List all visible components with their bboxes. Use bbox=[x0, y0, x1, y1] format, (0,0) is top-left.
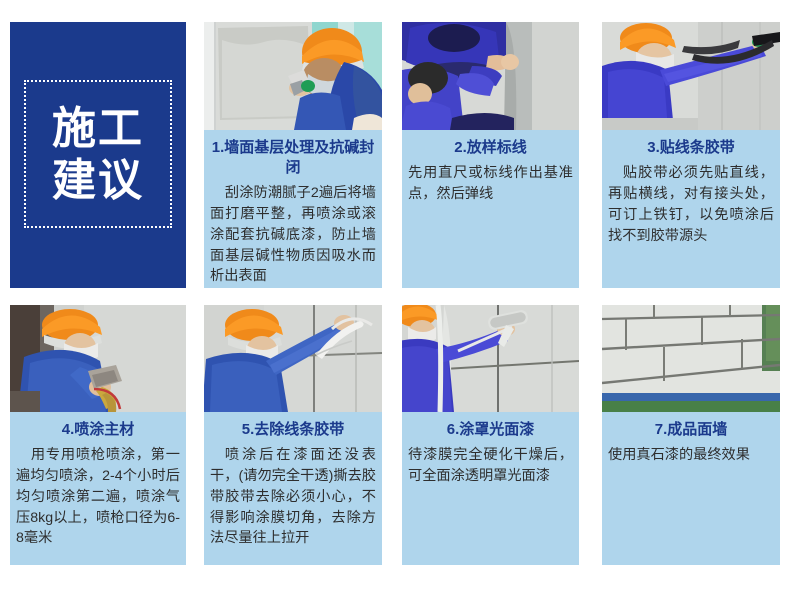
photo-illustration-plastering bbox=[204, 22, 382, 130]
step-4-title: 4.喷涂主材 bbox=[16, 420, 180, 440]
construction-advice-infographic: 施工 建议 bbox=[0, 0, 790, 595]
step-1-text: 刮涂防潮腻子2遍后将墙面打磨平整，再喷涂或滚涂配套抗碱底漆，防止墙面基层碱性物质… bbox=[210, 183, 376, 287]
step-2-text: 先用直尺或标线作出基准点，然后弹线 bbox=[408, 163, 573, 205]
step-card-6[interactable]: 6.涂罩光面漆 待漆膜完全硬化干燥后，可全面涂透明罩光面漆 bbox=[402, 305, 579, 565]
photo-illustration-spray-gun bbox=[10, 305, 186, 412]
step-7-text: 使用真石漆的最终效果 bbox=[608, 445, 774, 466]
step-5-text: 喷涂后在漆面还没表干，(请勿完全干透)撕去胶带胶带去除必须小心，不得影响涂膜切角… bbox=[210, 445, 376, 549]
step-3-body: 3.贴线条胶带 贴胶带必须先贴直线，再贴横线，对有接头处，可订上铁钉，以免喷涂后… bbox=[602, 130, 780, 288]
step-4-body: 4.喷涂主材 用专用喷枪喷涂，第一遍均匀喷涂，2-4个小时后均匀喷涂第二遍，喷涂… bbox=[10, 412, 186, 565]
step-6-photo bbox=[402, 305, 579, 412]
step-3-text: 贴胶带必须先贴直线，再贴横线，对有接头处，可订上铁钉，以免喷涂后找不到胶带源头 bbox=[608, 163, 774, 247]
photo-illustration-finished-wall bbox=[602, 305, 780, 412]
card-6: 6.涂罩光面漆 待漆膜完全硬化干燥后，可全面涂透明罩光面漆 bbox=[402, 305, 579, 565]
hero-title: 施工 建议 bbox=[10, 103, 186, 207]
card-2: 2.放样标线 先用直尺或标线作出基准点，然后弹线 bbox=[402, 22, 579, 288]
photo-illustration-marking-lines bbox=[402, 22, 579, 130]
steps-row-bottom: 4.喷涂主材 用专用喷枪喷涂，第一遍均匀喷涂，2-4个小时后均匀喷涂第二遍，喷涂… bbox=[0, 305, 790, 565]
step-6-text: 待漆膜完全硬化干燥后，可全面涂透明罩光面漆 bbox=[408, 445, 573, 487]
step-card-1[interactable]: 1.墙面基层处理及抗碱封闭 刮涂防潮腻子2遍后将墙面打磨平整，再喷涂或滚涂配套抗… bbox=[204, 22, 382, 288]
step-5-photo bbox=[204, 305, 382, 412]
photo-illustration-taping bbox=[602, 22, 780, 130]
photo-illustration-roller-topcoat bbox=[402, 305, 579, 412]
card-4: 4.喷涂主材 用专用喷枪喷涂，第一遍均匀喷涂，2-4个小时后均匀喷涂第二遍，喷涂… bbox=[10, 305, 186, 565]
step-7-body: 7.成品面墙 使用真石漆的最终效果 bbox=[602, 412, 780, 565]
step-card-2[interactable]: 2.放样标线 先用直尺或标线作出基准点，然后弹线 bbox=[402, 22, 579, 288]
step-6-body: 6.涂罩光面漆 待漆膜完全硬化干燥后，可全面涂透明罩光面漆 bbox=[402, 412, 579, 565]
step-card-7[interactable]: 7.成品面墙 使用真石漆的最终效果 bbox=[602, 305, 780, 565]
step-card-5[interactable]: 5.去除线条胶带 喷涂后在漆面还没表干，(请勿完全干透)撕去胶带胶带去除必须小心… bbox=[204, 305, 382, 565]
step-2-body: 2.放样标线 先用直尺或标线作出基准点，然后弹线 bbox=[402, 130, 579, 288]
steps-row-top: 施工 建议 bbox=[0, 22, 790, 288]
card-5: 5.去除线条胶带 喷涂后在漆面还没表干，(请勿完全干透)撕去胶带胶带去除必须小心… bbox=[204, 305, 382, 565]
step-1-title: 1.墙面基层处理及抗碱封闭 bbox=[210, 138, 376, 178]
step-2-title: 2.放样标线 bbox=[408, 138, 573, 158]
step-card-4[interactable]: 4.喷涂主材 用专用喷枪喷涂，第一遍均匀喷涂，2-4个小时后均匀喷涂第二遍，喷涂… bbox=[10, 305, 186, 565]
step-3-title: 3.贴线条胶带 bbox=[608, 138, 774, 158]
step-2-photo bbox=[402, 22, 579, 130]
hero-slot: 施工 建议 bbox=[10, 22, 186, 288]
card-1: 1.墙面基层处理及抗碱封闭 刮涂防潮腻子2遍后将墙面打磨平整，再喷涂或滚涂配套抗… bbox=[204, 22, 382, 288]
hero-panel: 施工 建议 bbox=[10, 22, 186, 288]
step-5-title: 5.去除线条胶带 bbox=[210, 420, 376, 440]
card-7: 7.成品面墙 使用真石漆的最终效果 bbox=[602, 305, 780, 565]
step-1-body: 1.墙面基层处理及抗碱封闭 刮涂防潮腻子2遍后将墙面打磨平整，再喷涂或滚涂配套抗… bbox=[204, 130, 382, 288]
step-3-photo bbox=[602, 22, 780, 130]
step-4-text: 用专用喷枪喷涂，第一遍均匀喷涂，2-4个小时后均匀喷涂第二遍，喷涂气压8kg以上… bbox=[16, 445, 180, 549]
card-3: 3.贴线条胶带 贴胶带必须先贴直线，再贴横线，对有接头处，可订上铁钉，以免喷涂后… bbox=[602, 22, 780, 288]
step-4-photo bbox=[10, 305, 186, 412]
step-7-title: 7.成品面墙 bbox=[608, 420, 774, 440]
step-5-body: 5.去除线条胶带 喷涂后在漆面还没表干，(请勿完全干透)撕去胶带胶带去除必须小心… bbox=[204, 412, 382, 565]
step-card-3[interactable]: 3.贴线条胶带 贴胶带必须先贴直线，再贴横线，对有接头处，可订上铁钉，以免喷涂后… bbox=[602, 22, 780, 288]
photo-illustration-remove-tape bbox=[204, 305, 382, 412]
step-6-title: 6.涂罩光面漆 bbox=[408, 420, 573, 440]
step-7-photo bbox=[602, 305, 780, 412]
step-1-photo bbox=[204, 22, 382, 130]
